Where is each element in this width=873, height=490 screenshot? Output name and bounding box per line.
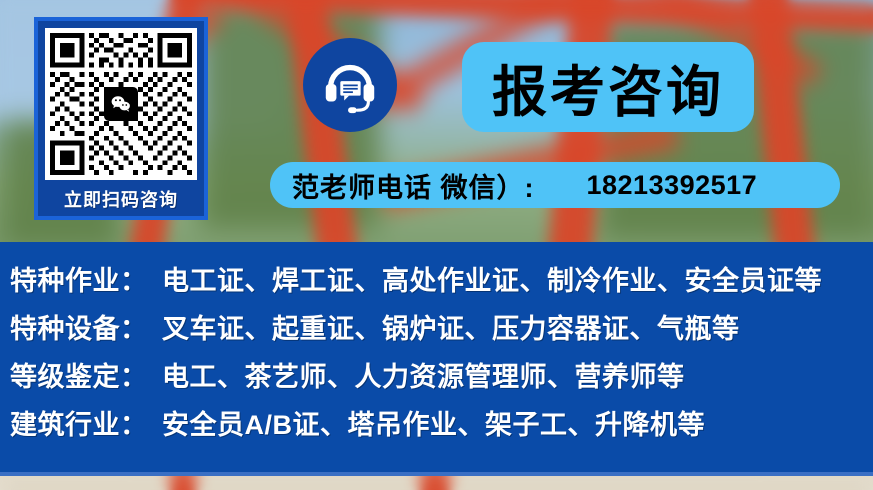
certificate-categories-panel: 特种作业： 电工证、焊工证、高处作业证、制冷作业、安全员证等 特种设备： 叉车证… bbox=[0, 242, 873, 472]
title-pill: 报考咨询 bbox=[462, 42, 754, 132]
phone-number[interactable]: 18213392517 bbox=[587, 170, 758, 201]
info-line-label: 特种设备： bbox=[10, 307, 162, 346]
info-line-value: 安全员A/B证、塔吊作业、架子工、升降机等 bbox=[162, 403, 705, 442]
info-line-label: 等级鉴定： bbox=[10, 355, 162, 394]
qr-card-caption: 立即扫码咨询 bbox=[64, 186, 178, 212]
wechat-icon bbox=[104, 87, 138, 121]
info-line: 建筑行业： 安全员A/B证、塔吊作业、架子工、升降机等 bbox=[10, 403, 873, 451]
headset-chat-icon bbox=[303, 38, 397, 132]
info-line-label: 特种作业： bbox=[10, 259, 162, 298]
phone-label: 范老师电话 微信）: bbox=[292, 166, 535, 205]
info-line: 等级鉴定： 电工、茶艺师、人力资源管理师、营养师等 bbox=[10, 355, 873, 403]
qr-code-image[interactable] bbox=[45, 28, 197, 180]
info-line-value: 电工证、焊工证、高处作业证、制冷作业、安全员证等 bbox=[162, 259, 822, 298]
info-line-label: 建筑行业： bbox=[10, 403, 162, 442]
phone-pill[interactable]: 范老师电话 微信）: 18213392517 bbox=[270, 162, 840, 208]
promo-poster: 立即扫码咨询 报考咨询 范老师电话 微信）: 18213392517 bbox=[0, 0, 873, 490]
panel-underline bbox=[0, 472, 873, 476]
info-line: 特种作业： 电工证、焊工证、高处作业证、制冷作业、安全员证等 bbox=[10, 259, 873, 307]
title-pill-text: 报考咨询 bbox=[492, 47, 724, 127]
qr-code-card[interactable]: 立即扫码咨询 bbox=[34, 17, 208, 220]
info-line-value: 电工、茶艺师、人力资源管理师、营养师等 bbox=[162, 355, 685, 394]
info-line-value: 叉车证、起重证、锅炉证、压力容器证、气瓶等 bbox=[162, 307, 740, 346]
info-line: 特种设备： 叉车证、起重证、锅炉证、压力容器证、气瓶等 bbox=[10, 307, 873, 355]
